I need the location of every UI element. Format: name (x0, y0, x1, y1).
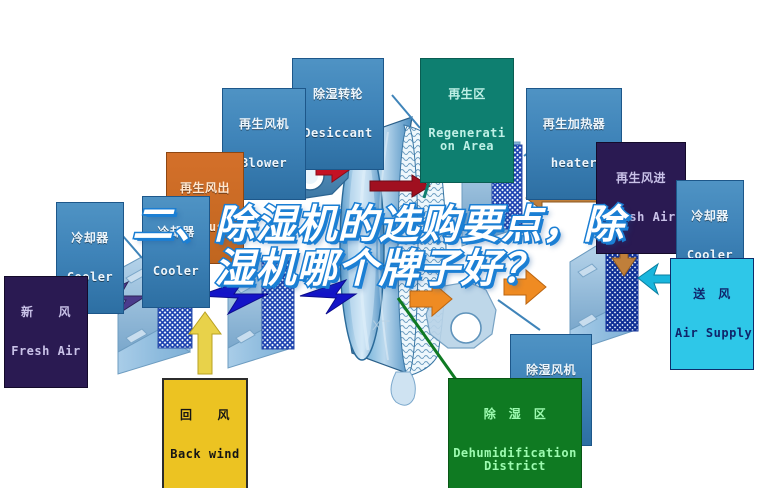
label-dehumidification-blower-cn: 除湿风机 (515, 364, 587, 377)
headline-line-1: 二、除湿机的选购要点，除 (0, 203, 757, 247)
label-regeneration-fresh-air-cn: 再生风进 (601, 172, 681, 185)
headline-line-2: 湿机哪个牌子好？ (0, 247, 757, 291)
label-back-wind[interactable]: 回 风 Back wind (162, 378, 248, 488)
label-desiccant-wheel-en: Desiccant (297, 127, 379, 140)
label-desiccant-wheel-cn: 除湿转轮 (297, 88, 379, 101)
headline-overlay: 二、除湿机的选购要点，除 湿机哪个牌子好？ (0, 203, 757, 291)
label-regeneration-area[interactable]: 再生区 Regenerati on Area (420, 58, 514, 183)
label-process-fresh-air-en: Fresh Air (9, 345, 83, 358)
label-process-fresh-air-cn: 新 风 (9, 306, 83, 319)
back-wind-arrow (189, 312, 221, 374)
watermark: XT (372, 317, 390, 333)
diagram-canvas: XT 除湿转轮 Desiccant 再生风机 Blower 再生区 Regene… (0, 0, 757, 488)
label-regeneration-heater-cn: 再生加热器 (531, 118, 617, 131)
label-regeneration-area-en: Regenerati on Area (425, 127, 509, 153)
label-back-wind-en: Back wind (168, 448, 242, 461)
label-regeneration-area-cn: 再生区 (425, 88, 509, 101)
label-air-supply-en: Air Supply (675, 327, 749, 340)
label-regeneration-blower-cn: 再生风机 (227, 118, 301, 131)
label-process-fresh-air[interactable]: 新 风 Fresh Air (4, 276, 88, 388)
label-regeneration-exhaust-cn: 再生风出 (171, 182, 239, 195)
label-dehumidification-district-cn: 除 湿 区 (453, 408, 577, 421)
label-dehumidification-district[interactable]: 除 湿 区 Dehumidification District (448, 378, 582, 488)
label-back-wind-cn: 回 风 (168, 409, 242, 422)
label-dehumidification-district-en: Dehumidification District (453, 447, 577, 473)
